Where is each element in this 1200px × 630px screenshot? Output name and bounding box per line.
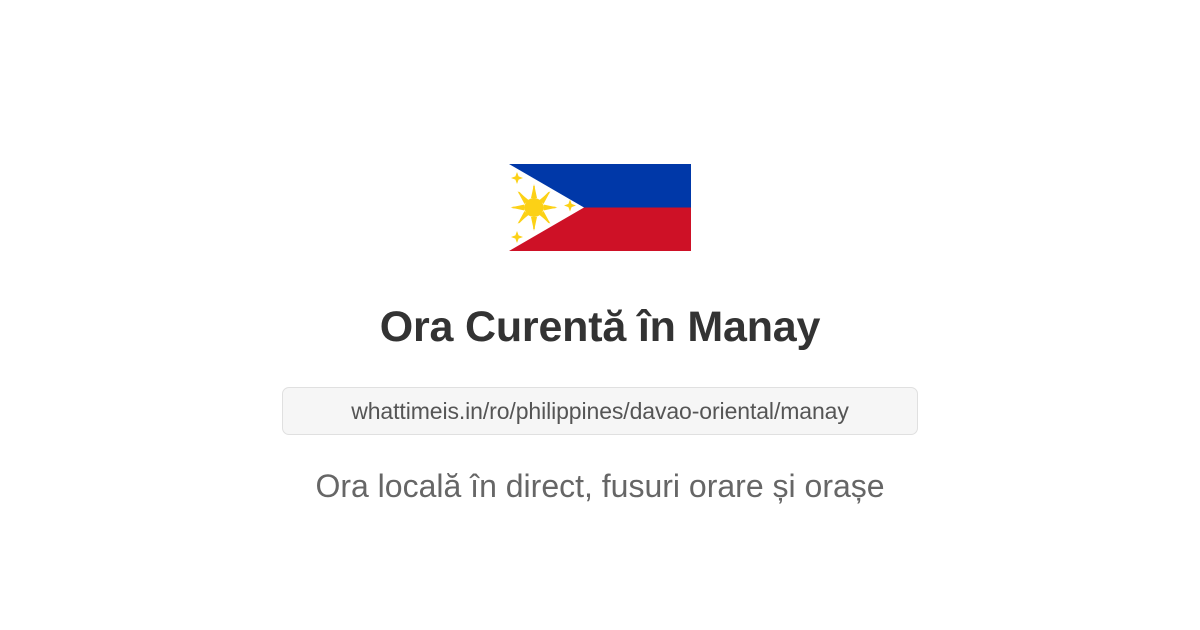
philippines-flag [509, 164, 691, 251]
page-title: Ora Curentă în Manay [380, 304, 820, 351]
preview-card: Ora Curentă în Manay whattimeis.in/ro/ph… [0, 0, 1200, 630]
url-text: whattimeis.in/ro/philippines/davao-orien… [351, 398, 849, 425]
flag-svg [509, 164, 691, 251]
flag-sun-icon [511, 184, 558, 231]
url-display[interactable]: whattimeis.in/ro/philippines/davao-orien… [282, 387, 918, 435]
page-subtitle: Ora locală în direct, fusuri orare și or… [315, 467, 884, 505]
